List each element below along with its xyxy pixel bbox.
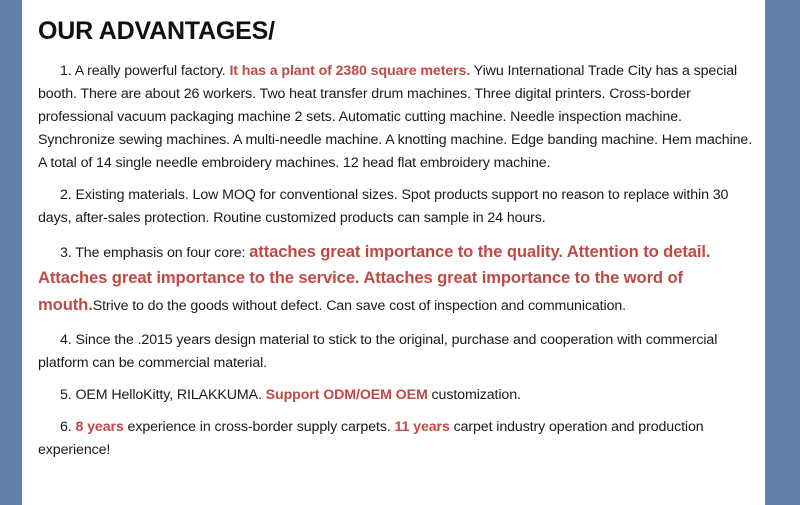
- advantage-text: OEM HelloKitty, RILAKKUMA.: [72, 387, 266, 403]
- advantage-item-number: 6.: [60, 419, 72, 435]
- advantage-item-number: 5.: [60, 387, 72, 403]
- advantage-item: 3. The emphasis on four core: attaches g…: [38, 239, 757, 320]
- advantage-item-number: 2.: [60, 187, 72, 203]
- page-title: OUR ADVANTAGES/: [38, 18, 757, 46]
- advantage-item: 1. A really powerful factory. It has a p…: [38, 60, 757, 175]
- advantage-text: The emphasis on four core:: [72, 245, 250, 261]
- advantage-item-number: 3.: [60, 245, 72, 261]
- advantage-item: 6. 8 years experience in cross-border su…: [38, 416, 757, 462]
- document-content: OUR ADVANTAGES/ 1. A really powerful fac…: [22, 0, 765, 505]
- left-decorative-band: [0, 0, 22, 505]
- advantage-item-number: 4.: [60, 332, 72, 348]
- advantage-text-highlight: It has a plant of 2380 square meters.: [229, 63, 470, 79]
- advantages-list: 1. A really powerful factory. It has a p…: [38, 60, 757, 463]
- right-decorative-band: [765, 0, 800, 505]
- advantage-text-highlight: 11 years: [395, 419, 450, 435]
- advantage-text-highlight: Support ODM/OEM OEM: [266, 387, 428, 403]
- advantage-text: Existing materials. Low MOQ for conventi…: [38, 187, 728, 226]
- advantage-text-highlight: 8 years: [75, 419, 123, 435]
- advantage-text: Strive to do the goods without defect. C…: [93, 298, 626, 314]
- advantage-item: 4. Since the .2015 years design material…: [38, 329, 757, 375]
- advantage-text: Since the .2015 years design material to…: [38, 332, 717, 371]
- advantage-item: 2. Existing materials. Low MOQ for conve…: [38, 184, 757, 230]
- advantage-item: 5. OEM HelloKitty, RILAKKUMA. Support OD…: [38, 384, 757, 407]
- advantage-item-number: 1.: [60, 63, 72, 79]
- advantage-text: customization.: [428, 387, 521, 403]
- advantage-text: A really powerful factory.: [72, 63, 230, 79]
- document-page: OUR ADVANTAGES/ 1. A really powerful fac…: [0, 0, 800, 505]
- advantage-text: experience in cross-border supply carpet…: [124, 419, 395, 435]
